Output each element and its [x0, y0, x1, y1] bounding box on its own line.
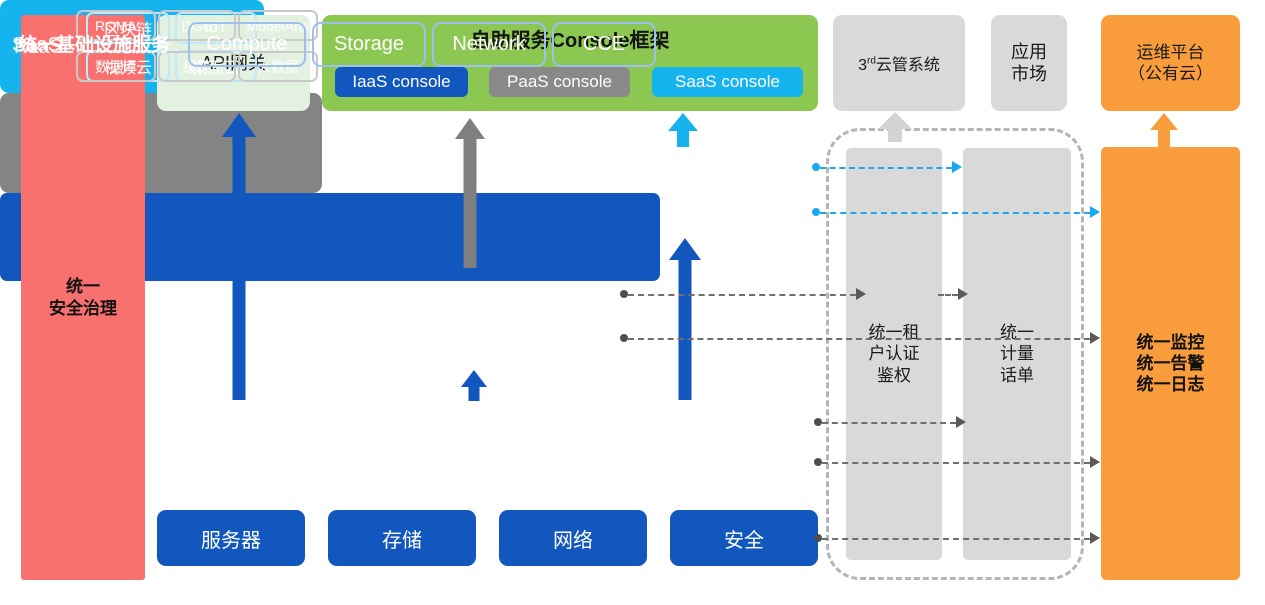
iaas-console-chip[interactable]: IaaS console — [335, 67, 468, 97]
dashline-paas-to-auth — [628, 294, 856, 296]
arrowhead-infra-to-auth — [956, 416, 966, 428]
hardware-label-security: 安全 — [724, 524, 764, 553]
connector-dot-paas-ops — [620, 334, 628, 342]
hardware-label-network: 网络 — [553, 524, 593, 553]
dashline-paas-to-ops — [628, 338, 1090, 340]
dashline-hardware-to-ops — [822, 538, 1090, 540]
arrow-shared-to-third-cloud — [878, 112, 912, 142]
connector-dot-infra-ops — [814, 458, 822, 466]
app-market-box: 应用 市场 — [991, 15, 1067, 111]
ops-capabilities-label: 统一监控 统一告警 统一日志 — [1137, 332, 1205, 396]
arrow-paas-to-console — [455, 118, 485, 268]
arrowhead-auth-to-billing — [958, 288, 968, 300]
unified-infrastructure-label: 统一基础设施服务 — [18, 30, 170, 57]
connector-dot-paas-auth — [620, 290, 628, 298]
shared-service-billing-label: 统一 计量 话单 — [1000, 322, 1034, 386]
arrow-infra-to-paas — [461, 370, 487, 401]
hardware-box-server: 服务器 — [157, 510, 305, 566]
arrow-ops-body-to-ops-platform — [1150, 113, 1178, 148]
dashline-infra-to-ops — [822, 462, 1090, 464]
app-market-label: 应用 市场 — [1011, 41, 1047, 86]
paas-console-chip[interactable]: PaaS console — [489, 67, 630, 97]
hardware-label-storage: 存储 — [382, 524, 422, 553]
shared-service-auth-label: 统一租 户认证 鉴权 — [869, 322, 920, 386]
connector-dot-hardware-ops — [814, 534, 822, 542]
shared-service-auth-column: 统一租 户认证 鉴权 — [846, 148, 942, 560]
arrowhead-infra-to-ops — [1090, 456, 1100, 468]
ops-platform-label: 运维平台 （公有云） — [1128, 42, 1213, 85]
arrowhead-paas-to-auth — [856, 288, 866, 300]
ops-platform-box: 运维平台 （公有云） — [1101, 15, 1240, 111]
ops-capabilities-panel: 统一监控 统一告警 统一日志 — [1101, 147, 1240, 580]
third-party-cloud-mgmt-label: 3rd云管系统 — [858, 51, 940, 75]
arrow-infra-to-api-gateway — [222, 113, 256, 400]
arrowhead-saas-to-ops — [1090, 206, 1100, 218]
third-party-cloud-mgmt-box: 3rd云管系统 — [833, 15, 965, 111]
saas-console-chip[interactable]: SaaS console — [652, 67, 803, 97]
dashline-auth-to-billing — [938, 294, 958, 296]
security-governance-panel: 统一 安全治理 — [21, 15, 145, 580]
infra-chip-network[interactable]: Network — [432, 22, 546, 67]
arrowhead-hardware-to-ops — [1090, 532, 1100, 544]
connector-dot-infra-auth — [814, 418, 822, 426]
architecture-diagram: 统一 安全治理 API网关 自助服务Console框架 IaaS console… — [0, 0, 1265, 605]
infra-chip-storage[interactable]: Storage — [312, 22, 426, 67]
infra-chip-compute[interactable]: Compute — [188, 22, 306, 67]
dashline-saas-to-ops — [820, 212, 1090, 214]
arrowhead-paas-to-ops — [1090, 332, 1100, 344]
infra-chip-cce[interactable]: CCE — [552, 22, 656, 67]
arrow-infra-to-saas — [669, 238, 701, 400]
dashline-infra-to-auth — [822, 422, 956, 424]
shared-service-billing-column: 统一 计量 话单 — [963, 148, 1071, 560]
arrow-saas-to-saas-console — [668, 113, 698, 147]
hardware-box-network: 网络 — [499, 510, 647, 566]
security-governance-label: 统一 安全治理 — [49, 276, 117, 319]
connector-dot-saas-auth — [812, 163, 820, 171]
arrowhead-saas-to-billing — [952, 161, 962, 173]
hardware-label-server: 服务器 — [201, 524, 261, 553]
connector-dot-saas-ops — [812, 208, 820, 216]
dashline-saas-to-billing — [820, 167, 952, 169]
hardware-box-security: 安全 — [670, 510, 818, 566]
hardware-box-storage: 存储 — [328, 510, 476, 566]
